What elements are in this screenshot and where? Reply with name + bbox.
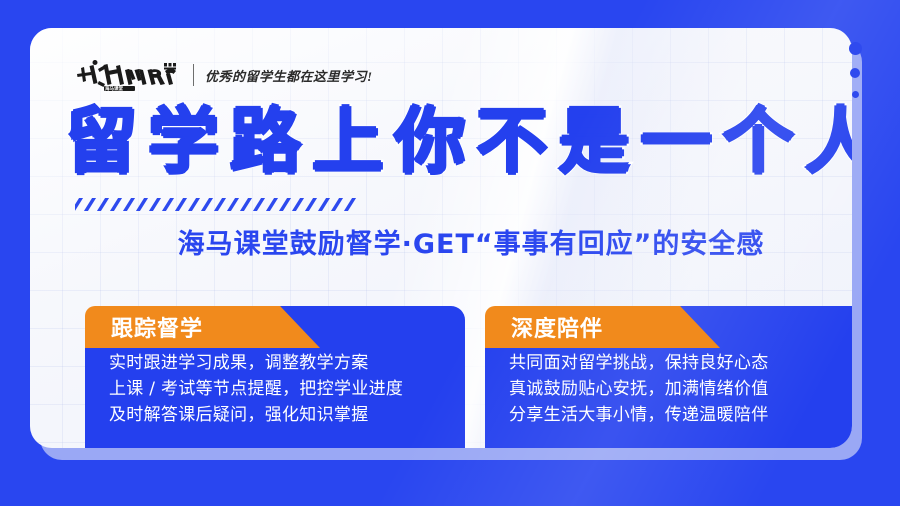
feature-card-tab: 跟踪督学: [85, 306, 320, 348]
highmark-logo-icon: 海马课堂: [76, 59, 180, 91]
feature-card-line: 实时跟进学习成果，调整教学方案: [109, 350, 441, 376]
subtitle: 海马课堂鼓励督学·GET“事事有回应”的安全感: [30, 226, 852, 264]
feature-card-lines: 共同面对留学挑战，保持良好心态 真诚鼓励贴心安抚，加满情绪价值 分享生活大事小情…: [485, 350, 852, 428]
slash-mark-icon: [227, 198, 239, 211]
headline-char: 学: [148, 103, 219, 181]
slash-mark-icon: [97, 198, 109, 211]
headline-char: 路: [230, 103, 301, 181]
slash-mark-icon: [188, 198, 200, 211]
headline-char: 个: [723, 103, 794, 181]
feature-card-line: 真诚鼓励贴心安抚，加满情绪价值: [509, 376, 841, 402]
dot-decoration-group: [842, 42, 868, 98]
slash-mark-icon: [253, 198, 265, 211]
feature-card: 跟踪督学 实时跟进学习成果，调整教学方案 上课 / 考试等节点提醒，把控学业进度…: [85, 286, 465, 448]
slash-mark-icon: [149, 198, 161, 211]
slash-mark-icon: [240, 198, 252, 211]
slash-mark-icon: [136, 198, 148, 211]
dot-large-icon: [849, 42, 862, 55]
header-divider: [193, 64, 194, 86]
headline-char: 留: [66, 103, 137, 181]
feature-card-line: 及时解答课后疑问，强化知识掌握: [109, 402, 441, 428]
logo-sub-text: 海马课堂: [105, 85, 123, 91]
feature-card: 深度陪伴 共同面对留学挑战，保持良好心态 真诚鼓励贴心安抚，加满情绪价值 分享生…: [485, 286, 852, 448]
slash-mark-icon: [305, 198, 317, 211]
slash-mark-icon: [318, 198, 330, 211]
headline-char: 一: [641, 103, 712, 181]
slash-mark-icon: [110, 198, 122, 211]
slash-mark-icon: [344, 198, 356, 211]
headline-char: 上: [312, 103, 383, 181]
slash-mark-icon: [266, 198, 278, 211]
slash-mark-icon: [123, 198, 135, 211]
feature-card-body: 跟踪督学 实时跟进学习成果，调整教学方案 上课 / 考试等节点提醒，把控学业进度…: [85, 306, 465, 448]
slash-mark-icon: [201, 198, 213, 211]
poster-canvas: 海马课堂 优秀的留学生都在这里学习! 留 学 路 上 你 不 是 一 个 人 海…: [0, 0, 900, 506]
slash-mark-icon: [331, 198, 343, 211]
slash-mark-icon: [214, 198, 226, 211]
headline-char: 你: [394, 103, 465, 181]
slash-mark-icon: [162, 198, 174, 211]
headline-char: 是: [559, 103, 630, 181]
feature-card-line: 共同面对留学挑战，保持良好心态: [509, 350, 841, 376]
slash-mark-icon: [279, 198, 291, 211]
brand-tagline: 优秀的留学生都在这里学习!: [205, 66, 373, 85]
brand-logo[interactable]: 海马课堂: [76, 59, 180, 91]
feature-card-tab: 深度陪伴: [485, 306, 720, 348]
slash-mark-icon: [84, 198, 96, 211]
feature-card-title: 跟踪督学: [111, 311, 203, 343]
headline: 留 学 路 上 你 不 是 一 个 人: [66, 102, 852, 182]
slash-mark-icon: [75, 198, 83, 211]
slash-mark-icon: [175, 198, 187, 211]
feature-card-title: 深度陪伴: [511, 311, 603, 343]
brand-header: 海马课堂 优秀的留学生都在这里学习!: [76, 58, 373, 92]
feature-card-list: 跟踪督学 实时跟进学习成果，调整教学方案 上课 / 考试等节点提醒，把控学业进度…: [85, 286, 852, 448]
feature-card-lines: 实时跟进学习成果，调整教学方案 上课 / 考试等节点提醒，把控学业进度 及时解答…: [85, 350, 465, 428]
headline-char: 不: [477, 103, 548, 181]
main-panel: 海马课堂 优秀的留学生都在这里学习! 留 学 路 上 你 不 是 一 个 人 海…: [30, 28, 852, 448]
slash-divider: [75, 196, 852, 212]
dot-small-icon: [852, 91, 859, 98]
feature-card-body: 深度陪伴 共同面对留学挑战，保持良好心态 真诚鼓励贴心安抚，加满情绪价值 分享生…: [485, 306, 852, 448]
feature-card-line: 分享生活大事小情，传递温暖陪伴: [509, 402, 841, 428]
feature-card-line: 上课 / 考试等节点提醒，把控学业进度: [109, 376, 441, 402]
dot-medium-icon: [850, 68, 860, 78]
slash-mark-icon: [292, 198, 304, 211]
headline-char: 人: [805, 103, 852, 181]
